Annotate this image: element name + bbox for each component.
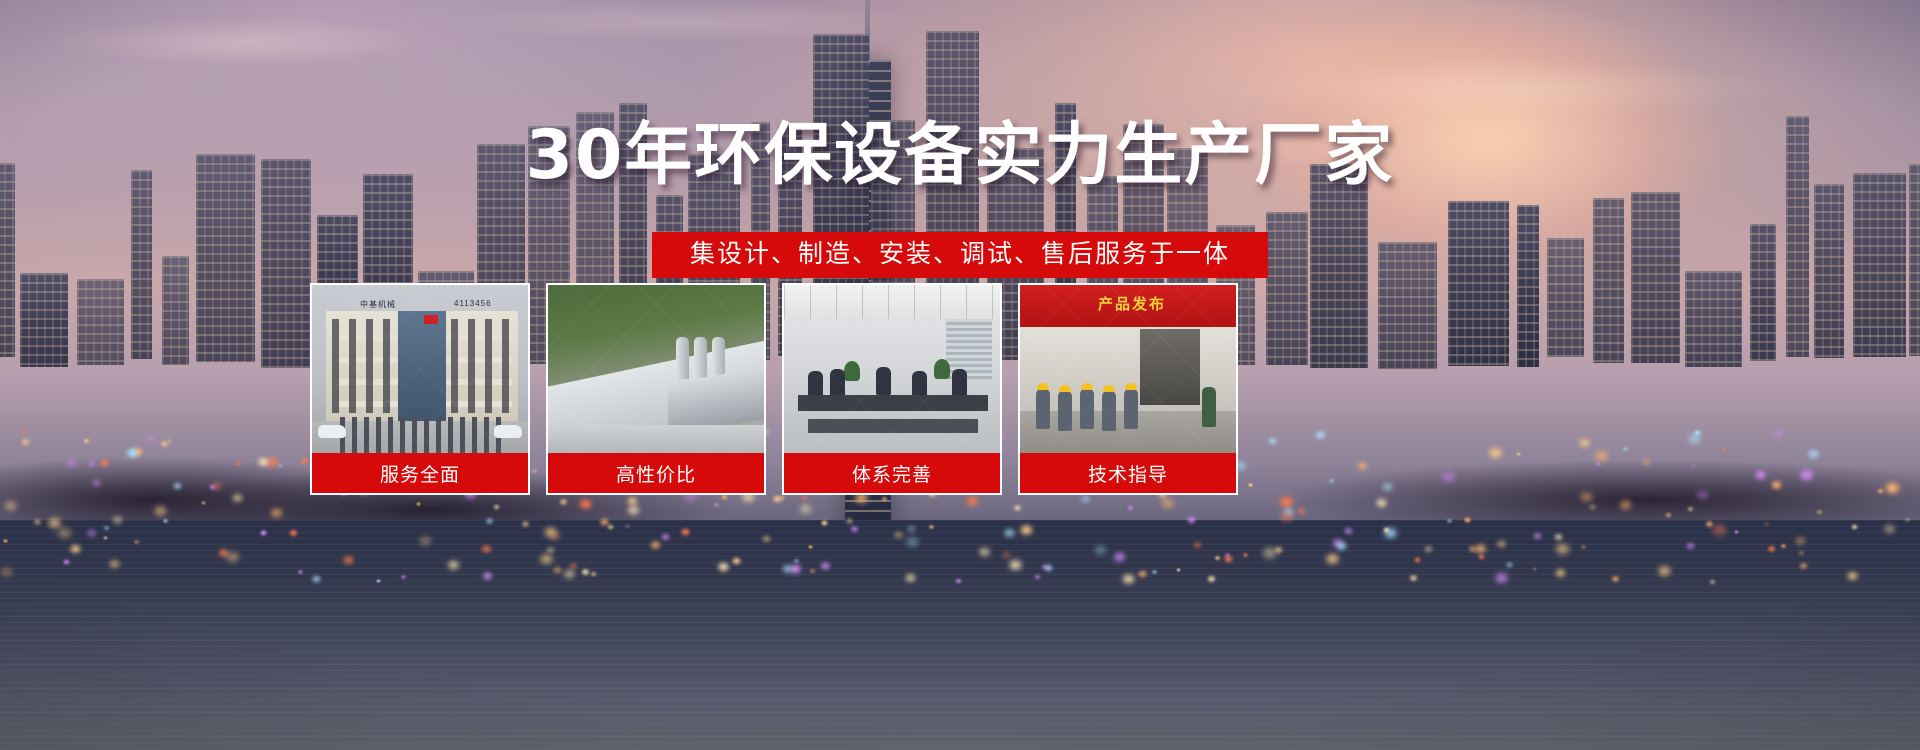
ceiling-lights <box>784 285 1000 319</box>
helmet-icon <box>1037 383 1049 390</box>
subtitle-row: 集设计、制造、安装、调试、售后服务于一体 <box>0 232 1920 278</box>
banner-content: 30年环保设备实力生产厂家 集设计、制造、安装、调试、售后服务于一体 中基机械 … <box>0 0 1920 750</box>
subtitle-badge: 集设计、制造、安装、调试、售后服务于一体 <box>652 232 1268 278</box>
person-figure <box>952 369 967 397</box>
storage-silo <box>676 337 689 379</box>
building-sign-left: 中基机械 <box>360 299 396 310</box>
meeting-desk <box>798 395 988 411</box>
worker-figure <box>1124 389 1138 429</box>
helmet-icon <box>1059 385 1071 392</box>
card-photo: 产品发布 <box>1020 285 1236 457</box>
meeting-desk <box>808 419 978 433</box>
staff-row <box>340 417 506 457</box>
building-entrance <box>398 311 446 421</box>
feature-card[interactable]: 产品发布 技术指导 <box>1018 283 1238 495</box>
card-caption: 服务全面 <box>312 453 528 493</box>
worker-figure <box>1102 391 1116 431</box>
parked-car <box>494 425 522 438</box>
person-figure <box>830 369 845 397</box>
card-caption: 体系完善 <box>784 453 1000 493</box>
building-sign-right: 4113456 <box>454 299 492 308</box>
workshop-gate <box>1140 329 1200 405</box>
storage-silo <box>712 337 725 379</box>
feature-card[interactable]: 体系完善 <box>782 283 1002 495</box>
feature-card[interactable]: 高性价比 <box>546 283 766 495</box>
feature-card[interactable]: 中基机械 4113456 服务全面 <box>310 283 530 495</box>
person-figure <box>876 367 891 395</box>
potted-plant <box>844 361 860 381</box>
page-title: 30年环保设备实力生产厂家 <box>0 99 1920 198</box>
storage-silo <box>694 337 707 379</box>
card-photo: 中基机械 4113456 <box>312 285 528 457</box>
flag-icon <box>424 315 438 324</box>
potted-plant <box>934 359 950 379</box>
supervisor-figure <box>1202 387 1216 427</box>
helmet-icon <box>1103 385 1115 392</box>
workshop-banner-text: 产品发布 <box>1098 293 1166 314</box>
card-photo <box>784 285 1000 457</box>
feature-card-list: 中基机械 4113456 服务全面 <box>310 283 1260 495</box>
card-photo <box>548 285 764 457</box>
parked-car <box>318 425 346 438</box>
card-caption: 技术指导 <box>1020 453 1236 493</box>
worker-figure <box>1036 389 1050 429</box>
card-caption: 高性价比 <box>548 453 764 493</box>
helmet-icon <box>1125 383 1137 390</box>
worker-figure <box>1058 391 1072 431</box>
helmet-icon <box>1081 383 1093 390</box>
workshop-banner: 产品发布 <box>1020 285 1236 327</box>
hero-banner: 30年环保设备实力生产厂家 集设计、制造、安装、调试、售后服务于一体 中基机械 … <box>0 0 1920 750</box>
worker-figure <box>1080 389 1094 429</box>
